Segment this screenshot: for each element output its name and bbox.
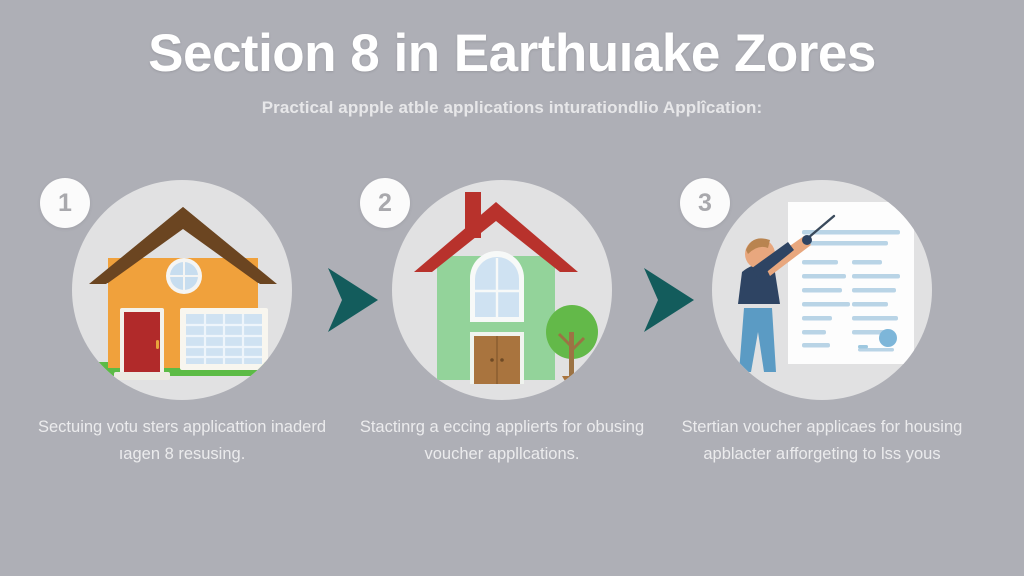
step-item-1: 1 Sectuing votu sters applicattion inade…: [32, 178, 332, 538]
green-house-with-tree-icon: [392, 180, 612, 400]
person-pointing-at-document-icon: [712, 180, 932, 400]
chevron-right-icon: [322, 262, 386, 338]
step-2-caption: Stactinrg a eccing applierts for obusing…: [352, 414, 652, 467]
step-3-caption: Stertian voucher applicaes for housing a…: [672, 414, 972, 467]
chevron-right-icon: [638, 262, 702, 338]
step-1-caption: Sectuing votu sters applicattion inaderd…: [32, 414, 332, 467]
step-2-circle: [392, 180, 612, 400]
step-1-illustration-wrap: 1: [32, 178, 332, 402]
orange-house-icon: [72, 180, 292, 400]
step-2-illustration-wrap: 2: [352, 178, 652, 402]
infographic-canvas: Section 8 in Earthuıake Zores Practical …: [0, 0, 1024, 576]
arrow-step2-to-step3: [638, 262, 702, 338]
step-3-number-badge: 3: [680, 178, 730, 228]
step-3-circle: [712, 180, 932, 400]
header: Section 8 in Earthuıake Zores Practical …: [0, 0, 1024, 118]
step-item-2: 2 Stactinrg a eccing applierts for obusi…: [352, 178, 652, 538]
step-2-number-badge: 2: [360, 178, 410, 228]
step-1-number: 1: [58, 189, 72, 218]
page-title: Section 8 in Earthuıake Zores: [0, 26, 1024, 82]
step-3-illustration-wrap: 3: [672, 178, 972, 402]
step-1-circle: [72, 180, 292, 400]
step-item-3: 3 Stertian voucher applicaes for housing…: [672, 178, 972, 538]
step-1-number-badge: 1: [40, 178, 90, 228]
arrow-step1-to-step2: [322, 262, 386, 338]
page-subtitle: Practical appple atble applications intu…: [0, 98, 1024, 118]
step-3-number: 3: [698, 189, 712, 218]
steps-row: 1 Sectuing votu sters applicattion inade…: [0, 178, 1024, 538]
step-2-number: 2: [378, 189, 392, 218]
